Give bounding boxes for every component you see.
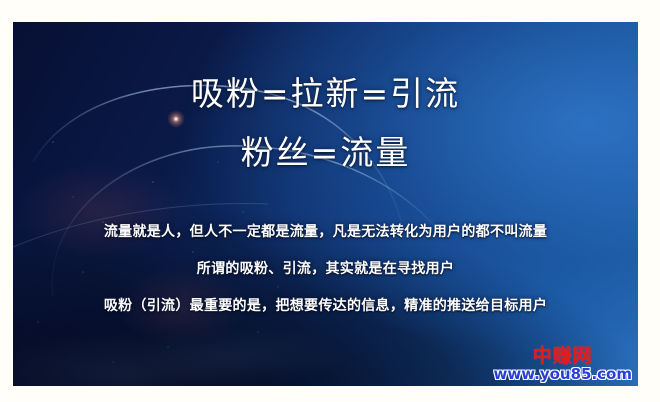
slide-title-block: 吸粉=拉新=引流 粉丝=流量 [13, 74, 638, 173]
slide-body-block: 流量就是人，但人不一定都是流量，凡是无法转化为用户的都不叫流量 所谓的吸粉、引流… [13, 222, 638, 316]
body-line-1: 流量就是人，但人不一定都是流量，凡是无法转化为用户的都不叫流量 [13, 222, 638, 242]
watermark-url: www.you85.com [494, 367, 632, 382]
slide-frame: 吸粉=拉新=引流 粉丝=流量 流量就是人，但人不一定都是流量，凡是无法转化为用户… [0, 0, 660, 402]
watermark: 中赚网 www.you85.com [494, 347, 632, 382]
title-line-1: 吸粉=拉新=引流 [13, 74, 638, 114]
body-line-3: 吸粉（引流）最重要的是，把想要传达的信息，精准的推送给目标用户 [13, 296, 638, 316]
slide-canvas: 吸粉=拉新=引流 粉丝=流量 流量就是人，但人不一定都是流量，凡是无法转化为用户… [13, 22, 638, 386]
body-line-2: 所谓的吸粉、引流，其实就是在寻找用户 [13, 259, 638, 279]
watermark-site-name: 中赚网 [494, 347, 632, 366]
title-line-2: 粉丝=流量 [13, 133, 638, 173]
